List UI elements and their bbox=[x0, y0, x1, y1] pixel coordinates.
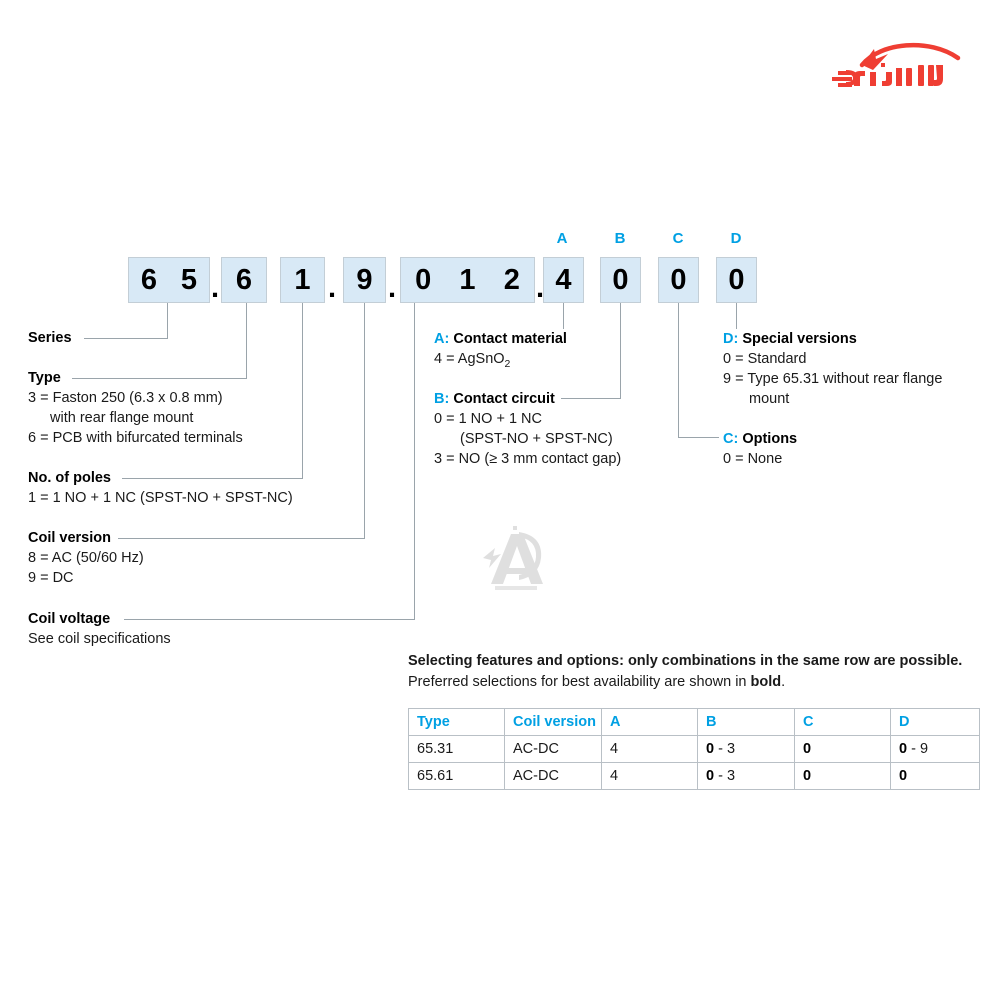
legend-contact-circuit-title-text: Contact circuit bbox=[453, 391, 555, 407]
cell-d-bold: 0 bbox=[899, 768, 907, 784]
table-header-c: C bbox=[795, 709, 891, 736]
legend-series-title: Series bbox=[28, 328, 78, 348]
legend-coil-voltage-line-1: See coil specifications bbox=[28, 629, 171, 649]
table-header-type: Type bbox=[409, 709, 505, 736]
agsno2-base: 4 = AgSnO bbox=[434, 351, 505, 367]
cell-a: 4 bbox=[602, 763, 698, 790]
legend-type-title: Type bbox=[28, 368, 67, 388]
table-header-d: D bbox=[891, 709, 980, 736]
legend-coil-version-title: Coil version bbox=[28, 528, 117, 548]
legend-key-c: C: bbox=[723, 431, 738, 447]
table-note-line-2-pre: Preferred selections for best availabili… bbox=[408, 674, 751, 690]
code-digit: 6 bbox=[141, 264, 157, 297]
legend-special-versions-title: D: Special versions bbox=[723, 329, 863, 349]
legend-special-versions-line-3: mount bbox=[723, 389, 942, 409]
legend-special-versions-line-1: 0 = Standard bbox=[723, 349, 942, 369]
segment-letter-d: D bbox=[716, 230, 756, 247]
legend-coil-voltage: Coil voltage See coil specifications bbox=[28, 609, 171, 649]
code-dot-1: . bbox=[211, 257, 219, 307]
code-segment-type: 6 bbox=[221, 257, 267, 303]
legend-poles-title: No. of poles bbox=[28, 468, 117, 488]
segment-letter-c: C bbox=[658, 230, 698, 247]
table-note-bold: bold bbox=[751, 674, 782, 690]
cell-c-bold: 0 bbox=[803, 741, 811, 757]
segment-letter-b: B bbox=[600, 230, 640, 247]
code-segment-contact-material: 4 bbox=[543, 257, 584, 303]
legend-contact-material-line-1: 4 = AgSnO2 bbox=[434, 349, 573, 375]
legend-special-versions-line-2: 9 = Type 65.31 without rear flange bbox=[723, 369, 942, 389]
leader-contact-circuit-v bbox=[620, 303, 621, 398]
datasheet-page: A B C D 65 . 6 1 . 9 . 012 . 4 0 0 0 Ser… bbox=[0, 0, 1000, 1000]
leader-coil-version-v bbox=[364, 303, 365, 538]
legend-contact-circuit-line-3: 3 = NO (≥ 3 mm contact gap) bbox=[434, 449, 621, 469]
legend-type: Type 3 = Faston 250 (6.3 x 0.8 mm) with … bbox=[28, 368, 243, 448]
table-row: 65.31 AC-DC 4 0 - 3 0 0 - 9 bbox=[409, 736, 980, 763]
cell-c: 0 bbox=[795, 736, 891, 763]
segment-letter-a: A bbox=[542, 230, 582, 247]
leader-special-versions-v bbox=[736, 303, 737, 330]
table-header-row: Type Coil version A B C D bbox=[409, 709, 980, 736]
legend-key-d: D: bbox=[723, 331, 738, 347]
legend-special-versions: D: Special versions 0 = Standard 9 = Typ… bbox=[723, 329, 942, 409]
code-segment-contact-circuit: 0 bbox=[600, 257, 641, 303]
legend-special-versions-title-text: Special versions bbox=[742, 331, 856, 347]
legend-contact-circuit-title: B: Contact circuit bbox=[434, 389, 561, 409]
cell-type: 65.31 bbox=[409, 736, 505, 763]
code-dot-2: . bbox=[328, 257, 336, 307]
cell-coil-version: AC-DC bbox=[505, 736, 602, 763]
cell-b-bold: 0 bbox=[706, 741, 714, 757]
code-dot-3: . bbox=[388, 257, 396, 307]
cell-b-rest: - 3 bbox=[714, 768, 735, 784]
legend-contact-circuit-line-2: (SPST-NO + SPST-NC) bbox=[434, 429, 621, 449]
leader-poles-v bbox=[302, 303, 303, 478]
cell-c-bold: 0 bbox=[803, 768, 811, 784]
leader-series-v bbox=[167, 303, 168, 338]
cell-b-bold: 0 bbox=[706, 768, 714, 784]
legend-type-line-2: with rear flange mount bbox=[28, 408, 243, 428]
legend-contact-circuit-line-1: 0 = 1 NO + 1 NC bbox=[434, 409, 621, 429]
table-note-line-2-post: . bbox=[781, 674, 785, 690]
legend-contact-circuit: B: Contact circuit 0 = 1 NO + 1 NC (SPST… bbox=[434, 389, 621, 469]
table-note-line-1: Selecting features and options: only com… bbox=[408, 651, 988, 672]
code-segment-coil-version: 9 bbox=[343, 257, 386, 303]
code-segment-poles: 1 bbox=[280, 257, 325, 303]
table-header-b: B bbox=[698, 709, 795, 736]
leader-coil-version-h bbox=[118, 538, 365, 539]
legend-coil-version: Coil version 8 = AC (50/60 Hz) 9 = DC bbox=[28, 528, 144, 588]
cell-d-rest: - 9 bbox=[907, 741, 928, 757]
leader-options-v bbox=[678, 303, 679, 437]
code-segment-options: 0 bbox=[658, 257, 699, 303]
leader-options-h bbox=[678, 437, 719, 438]
legend-options: C: Options 0 = None bbox=[723, 429, 803, 469]
code-digit: 0 bbox=[415, 264, 431, 297]
table-note-line-2: Preferred selections for best availabili… bbox=[408, 672, 988, 693]
cell-d: 0 - 9 bbox=[891, 736, 980, 763]
code-segment-series: 65 bbox=[128, 257, 210, 303]
code-digit: 1 bbox=[459, 264, 475, 297]
leader-contact-material-v bbox=[563, 303, 564, 330]
legend-type-line-1: 3 = Faston 250 (6.3 x 0.8 mm) bbox=[28, 388, 243, 408]
legend-contact-material-title: A: Contact material bbox=[434, 329, 573, 349]
code-digit: 5 bbox=[181, 264, 197, 297]
code-digit: 2 bbox=[504, 264, 520, 297]
legend-options-line-1: 0 = None bbox=[723, 449, 803, 469]
legend-contact-material-title-text: Contact material bbox=[453, 331, 567, 347]
leader-type-v bbox=[246, 303, 247, 378]
legend-key-b: B: bbox=[434, 391, 449, 407]
cell-d: 0 bbox=[891, 763, 980, 790]
cell-b: 0 - 3 bbox=[698, 736, 795, 763]
options-table: Type Coil version A B C D 65.31 AC-DC 4 … bbox=[408, 708, 980, 790]
legend-type-line-3: 6 = PCB with bifurcated terminals bbox=[28, 428, 243, 448]
legend-options-title: C: Options bbox=[723, 429, 803, 449]
legend-options-title-text: Options bbox=[742, 431, 797, 447]
legend-coil-version-line-1: 8 = AC (50/60 Hz) bbox=[28, 548, 144, 568]
legend-contact-material: A: Contact material 4 = AgSnO2 bbox=[434, 329, 573, 375]
code-segment-coil-voltage: 012 bbox=[400, 257, 535, 303]
table-header-coil-version: Coil version bbox=[505, 709, 602, 736]
table-note: Selecting features and options: only com… bbox=[408, 651, 988, 693]
code-segment-special-versions: 0 bbox=[716, 257, 757, 303]
legend-series: Series bbox=[28, 328, 78, 348]
cell-d-bold: 0 bbox=[899, 741, 907, 757]
arta-electric-logo bbox=[818, 32, 966, 92]
cell-coil-version: AC-DC bbox=[505, 763, 602, 790]
agsno2-sub: 2 bbox=[505, 359, 511, 370]
leader-series-h bbox=[84, 338, 168, 339]
table-row: 65.61 AC-DC 4 0 - 3 0 0 bbox=[409, 763, 980, 790]
arta-watermark-icon bbox=[473, 522, 559, 598]
legend-coil-version-line-2: 9 = DC bbox=[28, 568, 144, 588]
leader-coil-voltage-v bbox=[414, 303, 415, 619]
legend-coil-voltage-title: Coil voltage bbox=[28, 609, 116, 629]
cell-type: 65.61 bbox=[409, 763, 505, 790]
cell-a: 4 bbox=[602, 736, 698, 763]
cell-c: 0 bbox=[795, 763, 891, 790]
legend-key-a: A: bbox=[434, 331, 449, 347]
legend-poles: No. of poles 1 = 1 NO + 1 NC (SPST-NO + … bbox=[28, 468, 293, 508]
legend-poles-line-1: 1 = 1 NO + 1 NC (SPST-NO + SPST-NC) bbox=[28, 488, 293, 508]
table-header-a: A bbox=[602, 709, 698, 736]
cell-b-rest: - 3 bbox=[714, 741, 735, 757]
cell-b: 0 - 3 bbox=[698, 763, 795, 790]
